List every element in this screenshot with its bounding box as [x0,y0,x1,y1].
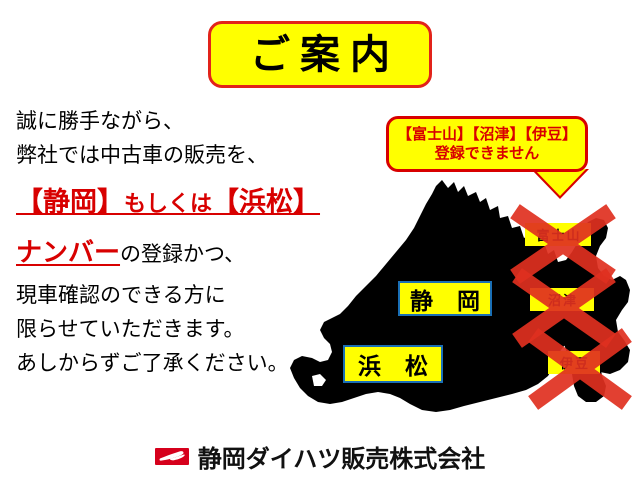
callout-line-1: 【富士山】【沼津】【伊豆】 [397,125,577,144]
number-word: ナンバー [16,238,120,268]
map-label-hamamatsu: 浜 松 [343,345,443,383]
page-title: ご案内 [240,35,400,75]
daihatsu-d-mark-icon [157,449,187,463]
highlight-connector: もしくは [124,192,212,217]
daihatsu-logo-icon [155,448,189,465]
company-name: 静岡ダイハツ販売株式会社 [198,439,486,474]
callout-blocked-regions: 【富士山】【沼津】【伊豆】 登録できません [386,116,588,172]
callout-line-2: 登録できません [435,144,540,163]
title-banner: ご案内 [208,21,432,88]
footer: 静岡ダイハツ販売株式会社 [0,436,640,476]
notice-line-1: 誠に勝手ながら、 [16,104,336,138]
number-line-rest: の登録かつ、 [120,242,245,266]
bracket-shizuoka: 【静岡】 [16,187,124,218]
notice-line-2: 弊社では中古車の販売を、 [16,138,336,172]
notice-poster: ご案内 誠に勝手ながら、 弊社では中古車の販売を、 【静岡】もしくは【浜松】 ナ… [0,0,640,480]
x-mark-izu-icon [526,328,634,412]
callout-tail [534,169,586,196]
map-label-shizuoka: 静 岡 [398,281,492,316]
